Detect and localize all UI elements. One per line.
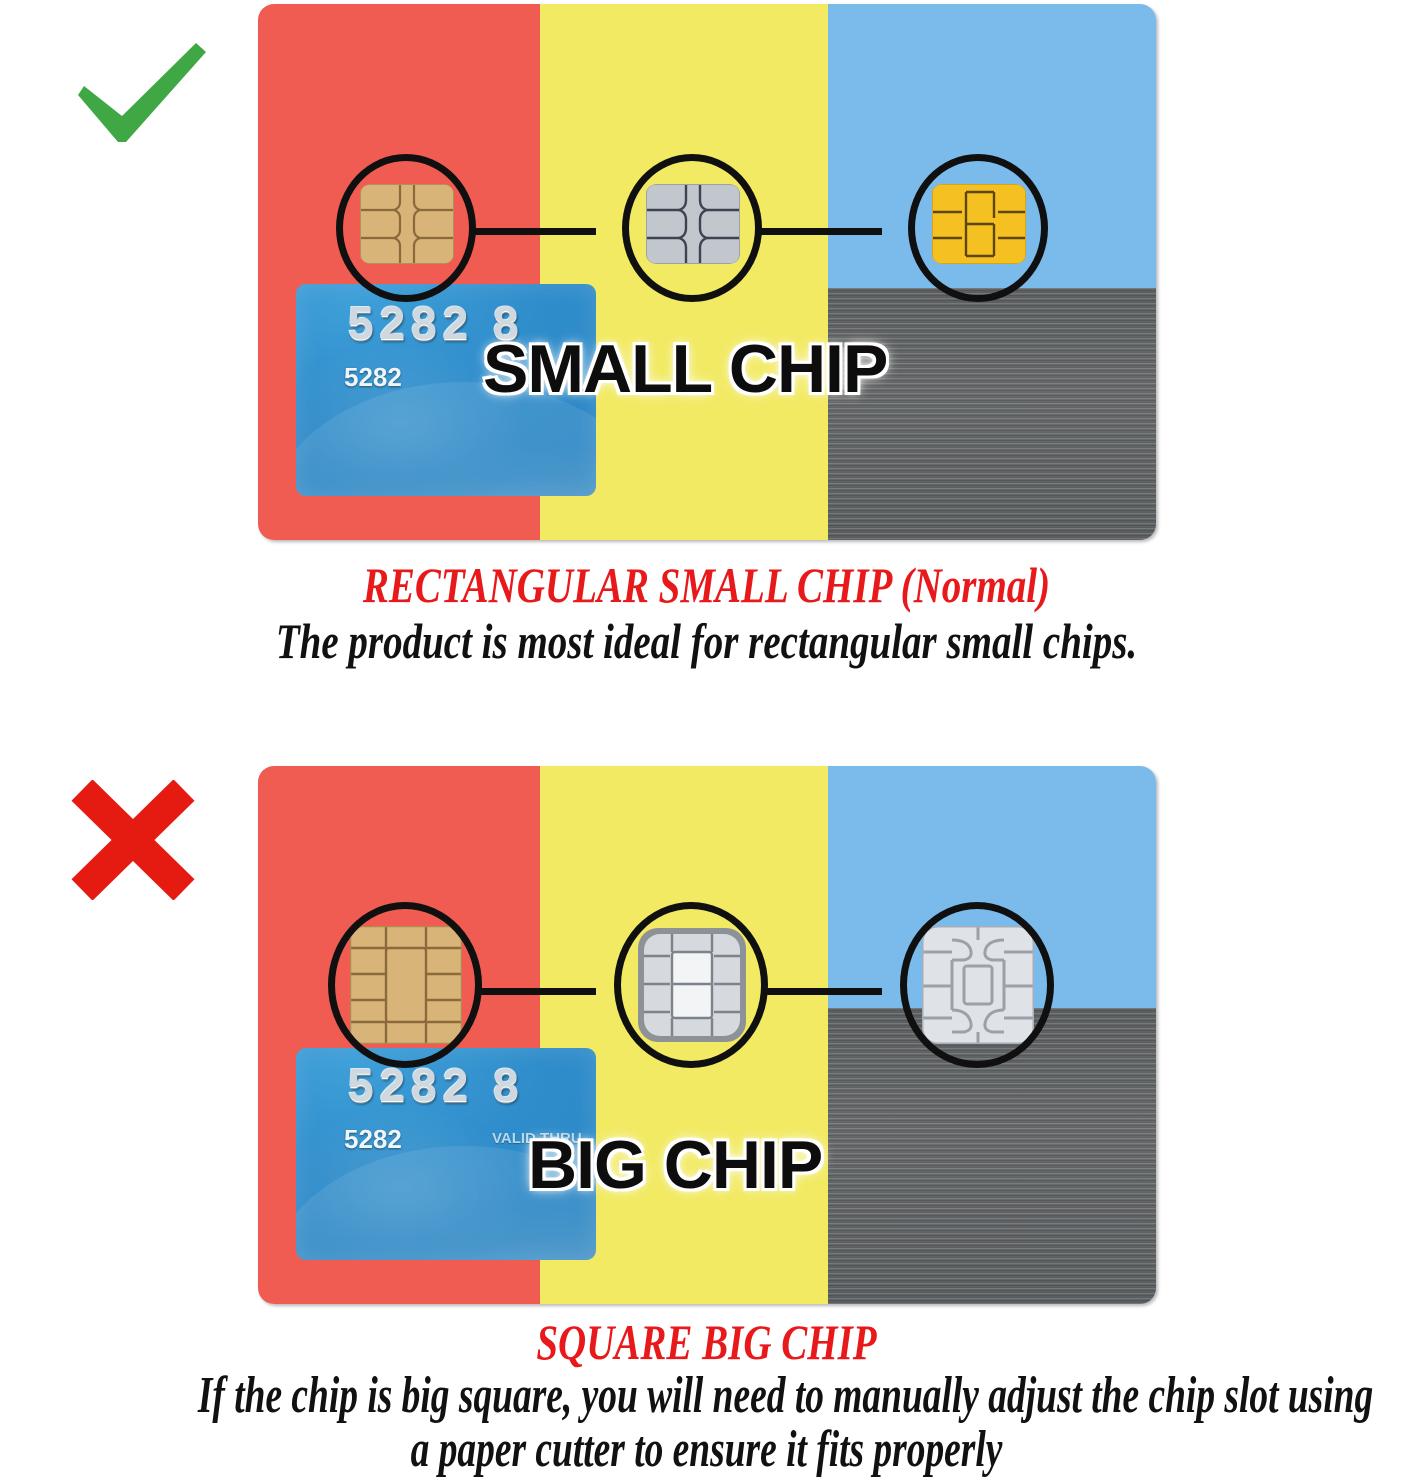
caption-body-big-chip-line1: If the chip is big square, you will need… (198, 1366, 1215, 1425)
magnetic-stripe (828, 288, 1156, 540)
printed-card-number: 5282 (344, 362, 402, 393)
callout-gold-small-chip (336, 154, 476, 302)
callout-yellow-small-chip (908, 154, 1048, 302)
callout-connector-1 (470, 228, 596, 235)
callout-connector-2 (756, 228, 882, 235)
callout-connector-4 (766, 988, 882, 995)
caption-body-small-chip: The product is most ideal for rectangula… (155, 612, 1257, 670)
check-mark-icon (70, 38, 210, 148)
cross-mark-icon (68, 780, 198, 900)
callout-ring-5 (614, 902, 768, 1068)
callout-ring-6 (900, 902, 1054, 1068)
callout-ring-3 (908, 154, 1048, 302)
printed-card-number-2: 5282 (344, 1124, 402, 1155)
callout-silver-small-chip (622, 154, 762, 302)
card-composite-small-chip: 5282 8 5282 (258, 4, 1156, 540)
callout-ring-1 (336, 154, 476, 302)
caption-title-big-chip: SQUARE BIG CHIP (155, 1313, 1257, 1371)
caption-title-small-chip: RECTANGULAR SMALL CHIP (Normal) (155, 556, 1257, 614)
callout-connector-3 (480, 988, 596, 995)
card-composite-big-chip: 5282 8 5282 VALID THRU (258, 766, 1156, 1304)
callout-gold-big-chip (328, 902, 482, 1068)
callout-ring-2 (622, 154, 762, 302)
caption-body-big-chip-line2: a paper cutter to ensure it fits properl… (198, 1420, 1215, 1479)
panel-small-chip: 5282 8 5282 (0, 0, 1413, 730)
overlay-word-small-chip: SMALL CHIP (483, 330, 887, 408)
overlay-word-big-chip: BIG CHIP (528, 1126, 822, 1204)
callout-silver-big-chip-2 (900, 902, 1054, 1068)
callout-silver-big-chip (614, 902, 768, 1068)
callout-ring-4 (328, 902, 482, 1068)
